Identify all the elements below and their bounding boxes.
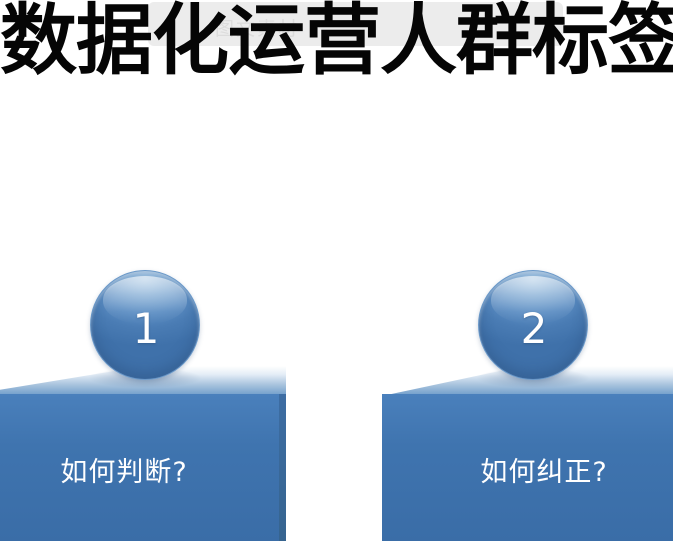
sphere-body-2: 2 xyxy=(478,270,588,380)
step-label-1: 如何判断? xyxy=(0,458,286,488)
step-label-2: 如何纠正? xyxy=(382,458,673,488)
step-number-2: 2 xyxy=(479,271,589,381)
page-title: 数据化运营人群标签 xyxy=(0,0,673,88)
slide-canvas: 图文素材 数据化运营人群标签 如何判断? xyxy=(0,0,673,541)
step-sphere-2[interactable]: 2 xyxy=(471,266,595,390)
step-sphere-1[interactable]: 1 xyxy=(83,266,207,390)
sphere-body-1: 1 xyxy=(90,270,200,380)
step-number-1: 1 xyxy=(91,271,201,381)
